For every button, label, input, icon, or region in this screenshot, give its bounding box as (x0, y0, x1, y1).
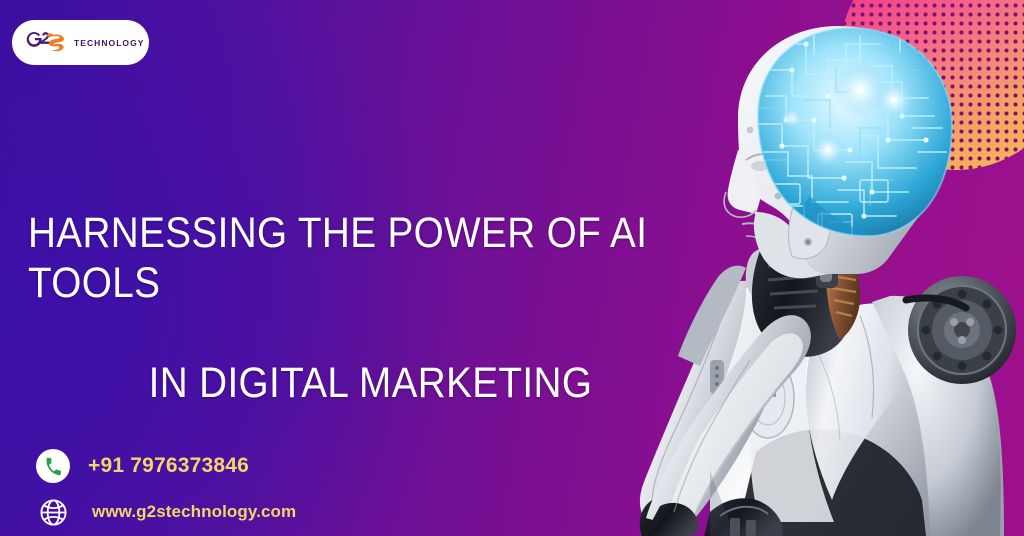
contact-website-row[interactable]: www.g2stechnology.com (36, 490, 296, 534)
headline-line-2: IN DIGITAL MARKETING (28, 358, 649, 408)
contact-block: +91 7976373846 www.g2stechnology.com (36, 444, 296, 534)
phone-number: +91 7976373846 (88, 454, 249, 478)
halftone-gradient-circle (840, 0, 1024, 170)
brand-logo[interactable]: TECHNOLOGY (12, 20, 149, 65)
phone-icon (36, 449, 70, 483)
halftone-dot-overlay (840, 0, 1024, 170)
ai-marketing-banner: TECHNOLOGY HARNESSING THE POWER OF AI TO… (0, 0, 1024, 536)
logo-wordmark: TECHNOLOGY (74, 38, 144, 48)
globe-icon (36, 495, 70, 529)
contact-phone-row[interactable]: +91 7976373846 (36, 444, 296, 488)
page-title: HARNESSING THE POWER OF AI TOOLS IN DIGI… (28, 158, 649, 458)
headline-line-1: HARNESSING THE POWER OF AI TOOLS (28, 208, 649, 308)
g2s-logo-mark (25, 29, 67, 56)
website-url: www.g2stechnology.com (92, 502, 296, 522)
